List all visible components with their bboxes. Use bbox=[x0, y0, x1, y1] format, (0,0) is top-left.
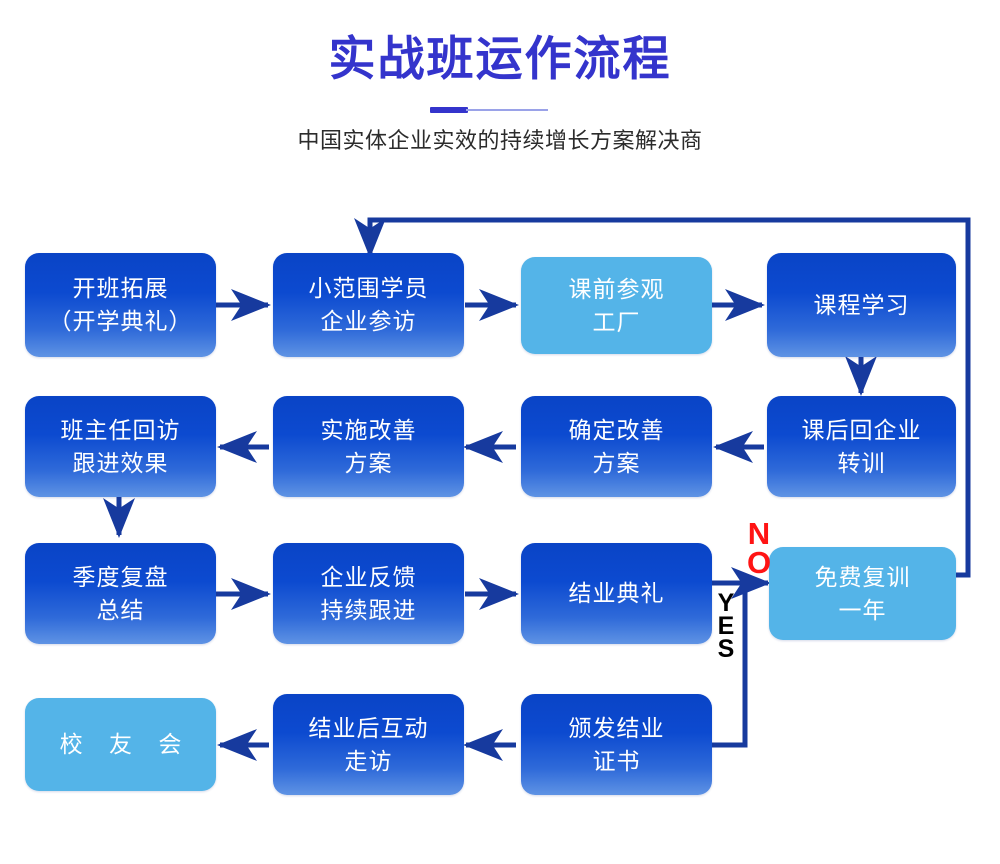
node-jieyehou-hudong-zoufang[interactable]: 结业后互动 走访 bbox=[273, 694, 464, 795]
node-xiaofanwei-canfang[interactable]: 小范围学员 企业参访 bbox=[273, 253, 464, 357]
node-keqian-canguan-gongchang[interactable]: 课前参观 工厂 bbox=[521, 257, 712, 354]
node-jidu-fupan-zongjie[interactable]: 季度复盘 总结 bbox=[25, 543, 216, 644]
node-xiaoyouhui[interactable]: 校 友 会 bbox=[25, 698, 216, 791]
node-qiye-fankui-genjin[interactable]: 企业反馈 持续跟进 bbox=[273, 543, 464, 644]
node-banzhuren-huifang[interactable]: 班主任回访 跟进效果 bbox=[25, 396, 216, 497]
node-kehou-hui-qiye-zhuanxun[interactable]: 课后回企业 转训 bbox=[767, 396, 956, 497]
node-banfa-jieye-zhengshu[interactable]: 颁发结业 证书 bbox=[521, 694, 712, 795]
flowchart-page: 实战班运作流程 中国实体企业实效的持续增长方案解决商 bbox=[0, 0, 1000, 864]
flow-diagram: 开班拓展 （开学典礼） 小范围学员 企业参访 课前参观 工厂 课程学习 班主任回… bbox=[0, 0, 1000, 864]
node-jieye-dianli[interactable]: 结业典礼 bbox=[521, 543, 712, 644]
node-shishi-gaishan-fangan[interactable]: 实施改善 方案 bbox=[273, 396, 464, 497]
edge-label-yes: Y E S bbox=[713, 592, 739, 661]
node-queding-gaishan-fangan[interactable]: 确定改善 方案 bbox=[521, 396, 712, 497]
edge-label-no: N O bbox=[742, 520, 776, 577]
node-mianfei-fuxun-yinian[interactable]: 免费复训 一年 bbox=[769, 547, 956, 640]
node-kaiban-tuozhan[interactable]: 开班拓展 （开学典礼） bbox=[25, 253, 216, 357]
node-kecheng-xuexi[interactable]: 课程学习 bbox=[767, 253, 956, 357]
